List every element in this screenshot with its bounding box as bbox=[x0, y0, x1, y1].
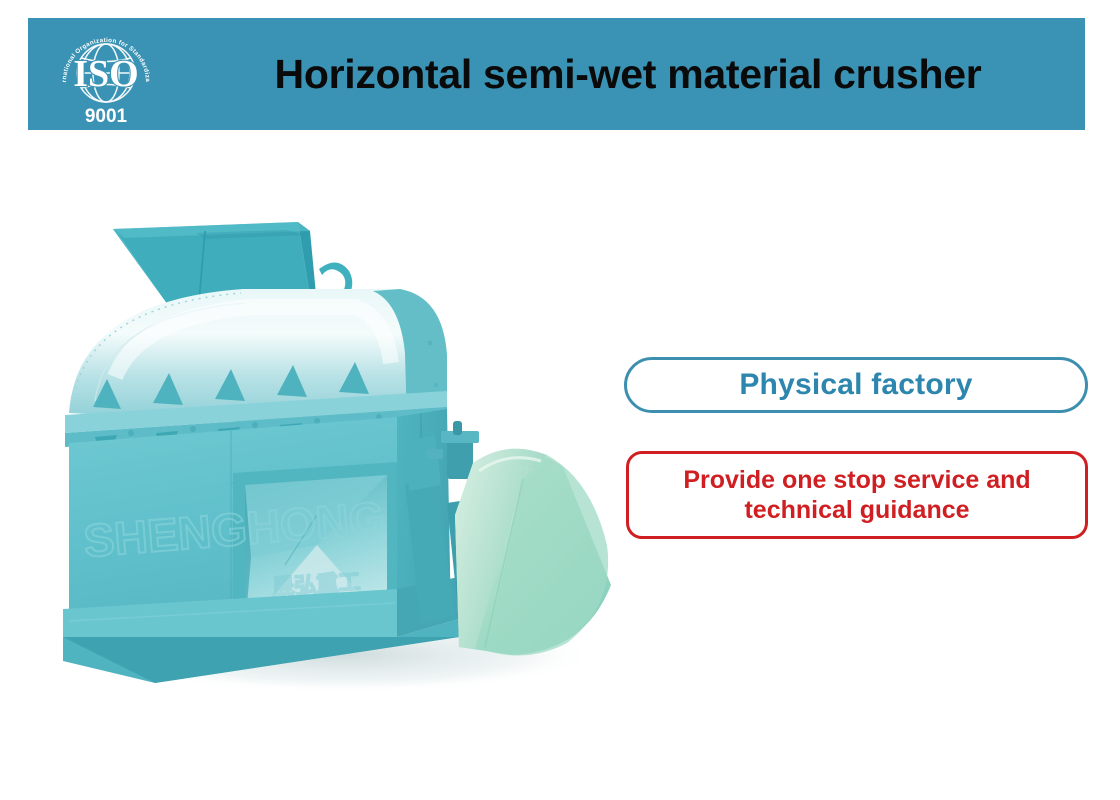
belt-guard bbox=[455, 449, 611, 656]
iso-wordmark: ISO bbox=[73, 53, 138, 95]
physical-factory-callout: Physical factory bbox=[624, 357, 1088, 413]
product-photo: SHENGHONG 晟弘重工 bbox=[55, 185, 635, 715]
lifting-eye bbox=[319, 262, 352, 293]
crusher-machine-illustration: SHENGHONG 晟弘重工 bbox=[55, 185, 635, 715]
page-title: Horizontal semi-wet material crusher bbox=[178, 18, 1078, 130]
service-callout: Provide one stop service and technical g… bbox=[626, 451, 1088, 539]
iso-9001-logo: ISO International Organization for Stand… bbox=[50, 24, 162, 128]
physical-factory-label: Physical factory bbox=[739, 368, 972, 402]
iso-standard-number: 9001 bbox=[85, 106, 128, 127]
header-banner: ISO International Organization for Stand… bbox=[28, 18, 1085, 130]
service-label: Provide one stop service and technical g… bbox=[643, 465, 1071, 526]
iso-globe-icon: ISO International Organization for Stand… bbox=[50, 24, 162, 128]
